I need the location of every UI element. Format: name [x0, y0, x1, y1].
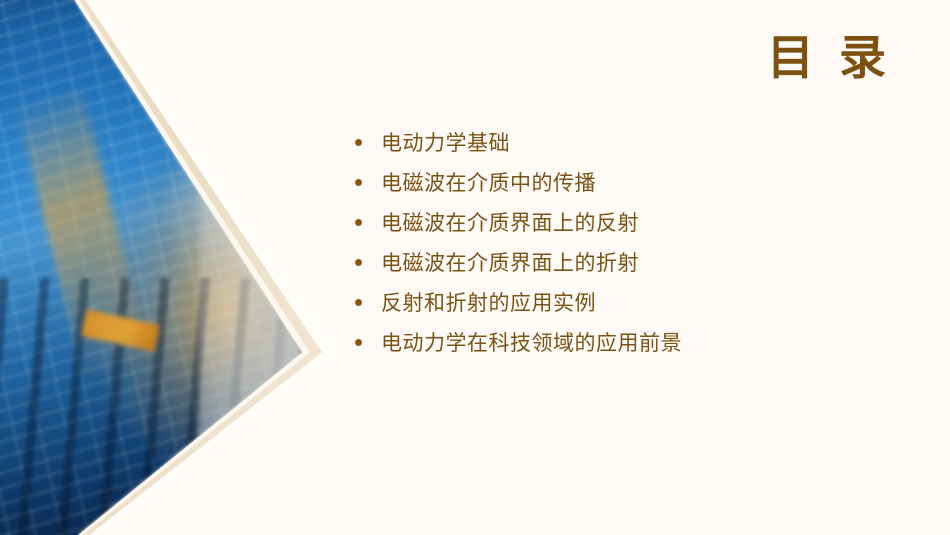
- page-title: 目 录: [767, 32, 892, 84]
- bullet-icon: [355, 139, 362, 146]
- chevron-photo-decoration: [0, 0, 340, 535]
- list-item-label: 电磁波在介质界面上的折射: [381, 247, 872, 277]
- bullet-icon: [355, 299, 362, 306]
- photo-edge-haze: [199, 0, 302, 535]
- photo-mullion-lines: [0, 0, 302, 535]
- list-item[interactable]: 电磁波在介质中的传播: [352, 162, 872, 202]
- list-item-label: 电动力学在科技领域的应用前景: [381, 327, 872, 357]
- list-item[interactable]: 电磁波在介质界面上的折射: [352, 242, 872, 282]
- list-item[interactable]: 反射和折射的应用实例: [352, 282, 872, 322]
- photo-floor-lines: [0, 0, 302, 535]
- chevron-outer-halo: [0, 0, 340, 535]
- bullet-icon: [355, 179, 362, 186]
- building-photo: [0, 0, 302, 535]
- table-of-contents: 电动力学基础 电磁波在介质中的传播 电磁波在介质界面上的反射 电磁波在介质界面上…: [352, 122, 872, 362]
- list-item[interactable]: 电磁波在介质界面上的反射: [352, 202, 872, 242]
- list-item-label: 电动力学基础: [381, 127, 872, 157]
- photo-blur-overlay: [0, 0, 302, 535]
- photo-dark-bands: [0, 278, 302, 535]
- photo-warm-reflection: [16, 88, 151, 381]
- list-item-label: 反射和折射的应用实例: [381, 287, 872, 317]
- list-item[interactable]: 电动力学在科技领域的应用前景: [352, 322, 872, 362]
- bullet-icon: [355, 219, 362, 226]
- photo-gondola-highlight: [81, 309, 160, 351]
- presentation-slide: 目 录 电动力学基础 电磁波在介质中的传播 电磁波在介质界面上的反射 电磁波在介…: [0, 0, 950, 535]
- list-item[interactable]: 电动力学基础: [352, 122, 872, 162]
- list-item-label: 电磁波在介质界面上的反射: [381, 207, 872, 237]
- bullet-icon: [355, 339, 362, 346]
- chevron-tan-frame: [0, 0, 322, 535]
- photo-base-gradient: [0, 0, 302, 535]
- list-item-label: 电磁波在介质中的传播: [381, 167, 872, 197]
- chevron-cream-separator: [0, 0, 310, 535]
- bullet-icon: [355, 259, 362, 266]
